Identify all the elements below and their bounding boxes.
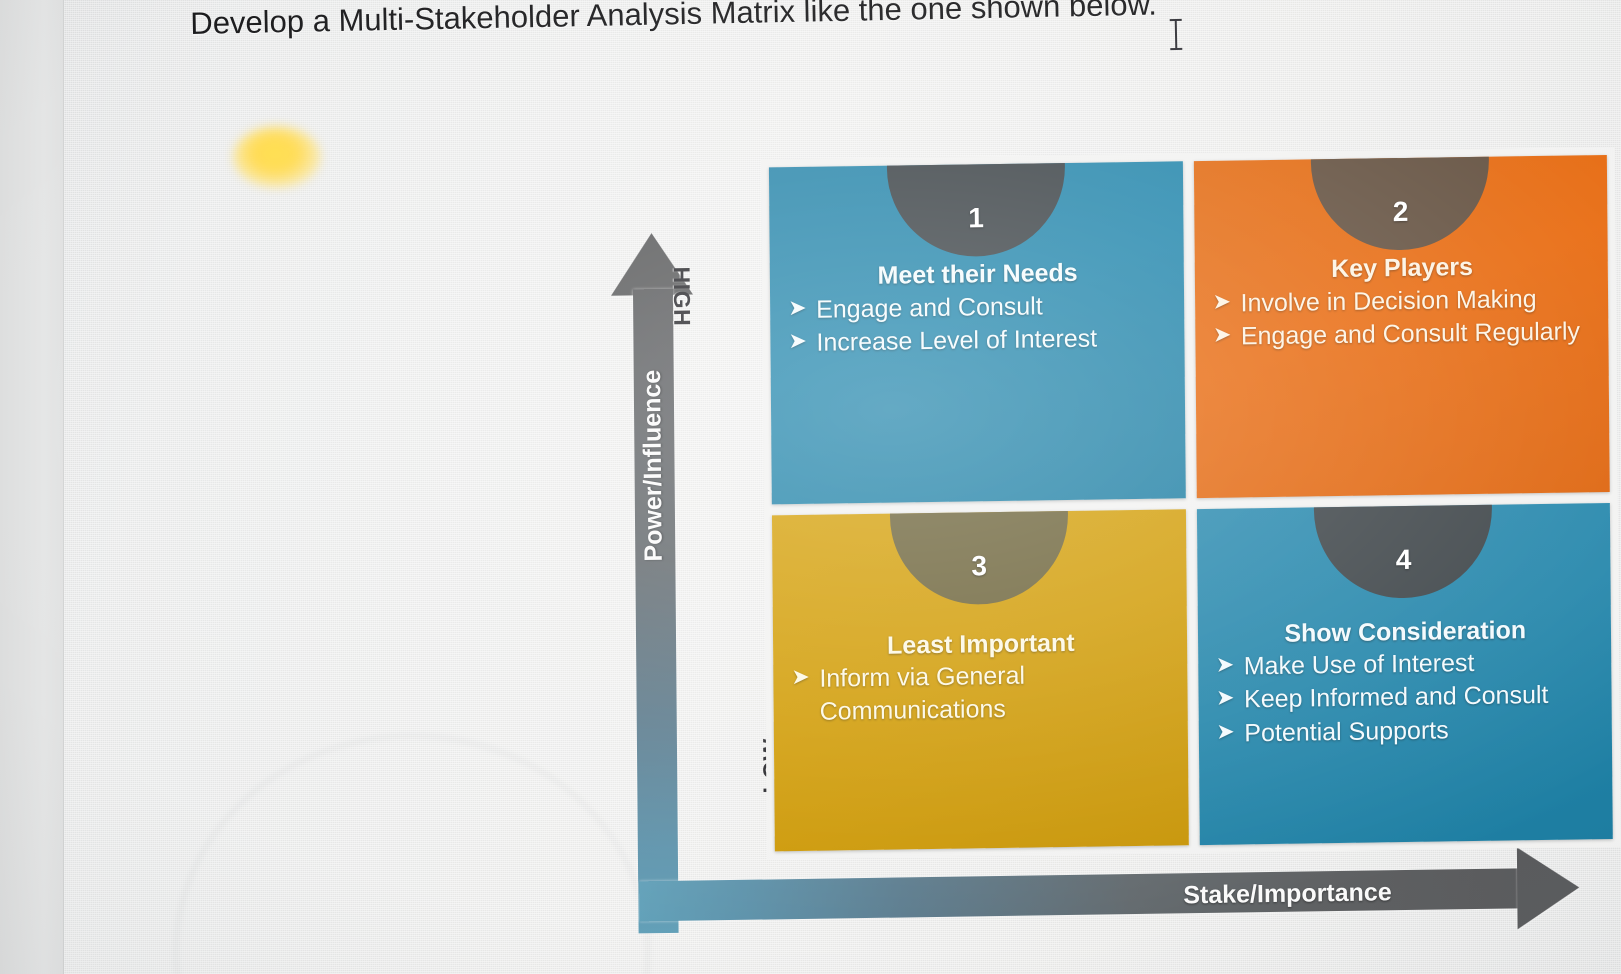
quadrant-1-body: Meet their Needs ➤Engage and Consult ➤In…	[769, 161, 1184, 370]
quadrant-4-body: Show Consideration ➤Make Use of Interest…	[1196, 502, 1612, 760]
matrix-grid: 1 Meet their Needs ➤Engage and Consult ➤…	[761, 147, 1621, 860]
quadrant-2-title: Key Players	[1210, 251, 1594, 285]
list-item: ➤Inform via General Communications	[789, 657, 1173, 729]
axis-arrowhead-right	[1517, 846, 1580, 929]
bullet-arrow-icon: ➤	[1216, 683, 1235, 713]
quadrant-3-title: Least Important	[789, 627, 1173, 661]
photographed-screen: Develop a Multi-Stakeholder Analysis Mat…	[0, 0, 1621, 974]
quadrant-2-list: ➤Involve in Decision Making ➤Engage and …	[1210, 282, 1594, 354]
stakeholder-analysis-matrix-diagram: Power/Influence HIGH LOW Stake/Importanc…	[0, 0, 1621, 974]
list-item-text: Engage and Consult Regularly	[1241, 317, 1580, 350]
list-item-text: Potential Supports	[1244, 716, 1449, 747]
bullet-arrow-icon: ➤	[788, 292, 807, 322]
list-item-text: Engage and Consult	[816, 292, 1043, 323]
bullet-arrow-icon: ➤	[1212, 286, 1231, 316]
bullet-arrow-icon: ➤	[1213, 319, 1232, 349]
bullet-arrow-icon: ➤	[1216, 650, 1235, 680]
list-item: ➤Potential Supports	[1214, 712, 1598, 751]
scale-label-high: HIGH	[668, 266, 696, 326]
bullet-arrow-icon: ➤	[791, 662, 810, 692]
quadrant-3-least-important: 3 Least Important ➤Inform via General Co…	[772, 509, 1188, 852]
list-item-text: Increase Level of Interest	[816, 324, 1097, 356]
quadrant-1-list: ➤Engage and Consult ➤Increase Level of I…	[786, 288, 1170, 360]
bullet-arrow-icon: ➤	[788, 326, 807, 356]
quadrant-4-show-consideration: 4 Show Consideration ➤Make Use of Intere…	[1196, 502, 1612, 845]
quadrant-3-list: ➤Inform via General Communications	[789, 657, 1173, 729]
stake-importance-axis-arrow	[639, 846, 1580, 942]
quadrant-3-body: Least Important ➤Inform via General Comm…	[772, 509, 1187, 740]
list-item: ➤Increase Level of Interest	[786, 321, 1170, 360]
list-item: ➤Engage and Consult Regularly	[1211, 315, 1595, 354]
list-item-text: Involve in Decision Making	[1240, 285, 1536, 317]
quadrant-2-key-players: 2 Key Players ➤Involve in Decision Makin…	[1193, 155, 1609, 498]
vertical-axis-label: Power/Influence	[611, 305, 696, 626]
list-item-text: Inform via General Communications	[819, 662, 1025, 726]
vertical-axis-label-text: Power/Influence	[638, 369, 669, 561]
list-item: ➤Involve in Decision Making	[1210, 282, 1594, 321]
list-item-text: Keep Informed and Consult	[1244, 681, 1549, 714]
list-item: ➤Engage and Consult	[786, 288, 1170, 327]
quadrant-2-body: Key Players ➤Involve in Decision Making …	[1193, 155, 1608, 364]
horizontal-axis-label: Stake/Importance	[1183, 878, 1392, 910]
quadrant-4-list: ➤Make Use of Interest ➤Keep Informed and…	[1214, 645, 1598, 750]
list-item-text: Make Use of Interest	[1244, 649, 1475, 680]
quadrant-1-title: Meet their Needs	[786, 257, 1170, 291]
bullet-arrow-icon: ➤	[1216, 716, 1235, 746]
quadrant-4-title: Show Consideration	[1213, 615, 1597, 649]
quadrant-1-meet-their-needs: 1 Meet their Needs ➤Engage and Consult ➤…	[769, 161, 1185, 504]
